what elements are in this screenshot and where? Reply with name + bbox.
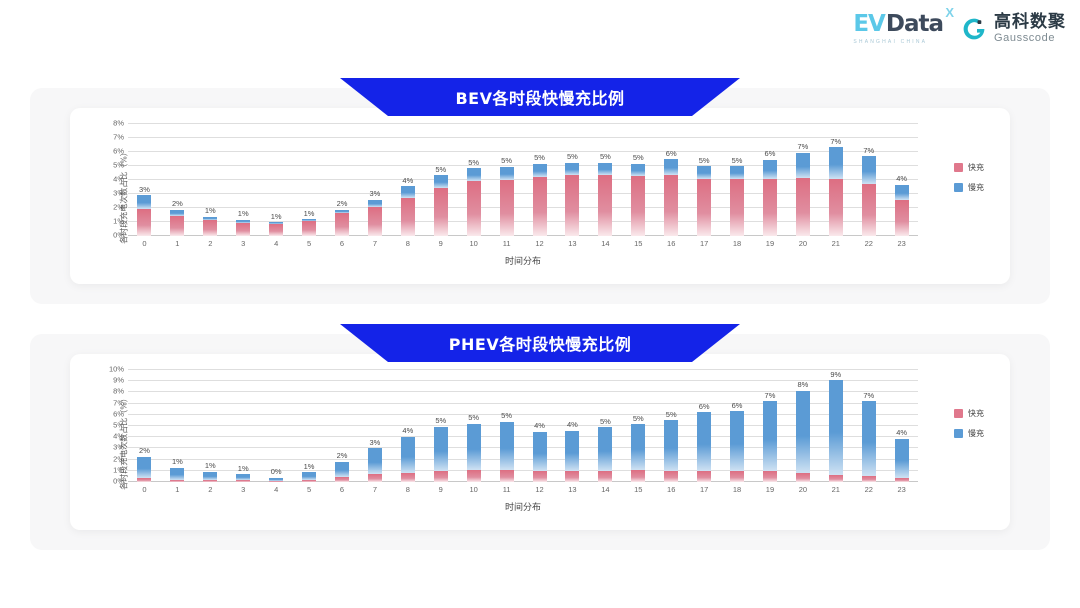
- stacked-bar[interactable]: [895, 439, 909, 482]
- stacked-bar[interactable]: [796, 391, 810, 482]
- bar-column[interactable]: 5%: [457, 124, 490, 236]
- stacked-bar[interactable]: [170, 210, 184, 236]
- x-tick-label: 1: [161, 239, 194, 248]
- bar-segment-fast-charge: [269, 481, 283, 482]
- bar-column[interactable]: 7%: [819, 124, 852, 236]
- bev-chart-card: 各时段充电次数占比（%） 0%1%2%3%4%5%6%7%8%3%2%1%1%1…: [70, 108, 1010, 284]
- legend-label: 慢充: [968, 182, 984, 193]
- bar-column[interactable]: 4%: [391, 124, 424, 236]
- gausscode-cn-text: 高科数聚: [994, 14, 1066, 31]
- bar-column[interactable]: 6%: [655, 124, 688, 236]
- gausscode-mark-icon: [961, 16, 987, 42]
- stacked-bar[interactable]: [236, 474, 250, 482]
- x-tick-label: 1: [161, 485, 194, 494]
- bar-segment-fast-charge: [895, 478, 909, 482]
- bar-column[interactable]: 6%: [754, 124, 787, 236]
- bar-value-label: 5%: [655, 411, 688, 419]
- bar-segment-fast-charge: [763, 179, 777, 236]
- bar-value-label: 2%: [128, 447, 161, 455]
- bar-value-label: 1%: [194, 207, 227, 215]
- bar-segment-fast-charge: [664, 471, 678, 482]
- bar-segment-slow-charge: [598, 427, 612, 471]
- evdata-ev-text: EV: [853, 13, 885, 36]
- bar-segment-fast-charge: [335, 477, 349, 482]
- phev-title-text: PHEV各时段快慢充比例: [449, 331, 631, 355]
- bar-segment-slow-charge: [631, 424, 645, 470]
- bar-segment-fast-charge: [730, 179, 744, 236]
- bar-column[interactable]: 6%: [721, 370, 754, 482]
- bar-segment-fast-charge: [500, 470, 514, 482]
- stacked-bar[interactable]: [434, 175, 448, 236]
- bar-column[interactable]: 0%: [260, 370, 293, 482]
- bar-column[interactable]: 2%: [326, 124, 359, 236]
- stacked-bar[interactable]: [335, 210, 349, 236]
- bar-segment-slow-charge: [401, 186, 415, 198]
- bar-column[interactable]: 1%: [194, 124, 227, 236]
- bar-value-label: 6%: [655, 150, 688, 158]
- legend-label: 快充: [968, 408, 984, 419]
- x-tick-label: 21: [819, 239, 852, 248]
- bar-column[interactable]: 5%: [589, 124, 622, 236]
- bar-segment-slow-charge: [895, 185, 909, 200]
- x-tick-label: 5: [293, 485, 326, 494]
- bar-column[interactable]: 5%: [424, 124, 457, 236]
- bar-value-label: 4%: [885, 175, 918, 183]
- evdata-logo: EV Data X SHANGHAI CHINA: [853, 13, 943, 45]
- stacked-bar[interactable]: [631, 424, 645, 482]
- legend-label: 慢充: [968, 428, 984, 439]
- bar-segment-slow-charge: [895, 439, 909, 478]
- bar-segment-slow-charge: [631, 164, 645, 176]
- bar-segment-fast-charge: [368, 474, 382, 482]
- bar-segment-fast-charge: [730, 471, 744, 482]
- stacked-bar[interactable]: [467, 168, 481, 236]
- x-tick-label: 2: [194, 239, 227, 248]
- bar-column[interactable]: 4%: [885, 370, 918, 482]
- legend-item[interactable]: 快充: [954, 408, 984, 419]
- bar-value-label: 3%: [358, 190, 391, 198]
- bar-segment-fast-charge: [500, 180, 514, 236]
- stacked-bar[interactable]: [401, 186, 415, 236]
- bar-column[interactable]: 5%: [589, 370, 622, 482]
- bar-segment-slow-charge: [763, 160, 777, 179]
- bar-column[interactable]: 1%: [227, 370, 260, 482]
- stacked-bar[interactable]: [434, 427, 448, 482]
- bar-segment-slow-charge: [862, 401, 876, 475]
- x-tick-label: 6: [326, 485, 359, 494]
- x-tick-label: 23: [885, 239, 918, 248]
- x-tick-label: 4: [260, 239, 293, 248]
- x-tick-label: 11: [490, 485, 523, 494]
- x-tick-label: 12: [523, 239, 556, 248]
- bar-segment-slow-charge: [565, 163, 579, 176]
- bar-segment-fast-charge: [434, 188, 448, 236]
- stacked-bar[interactable]: [269, 478, 283, 482]
- bar-value-label: 5%: [589, 153, 622, 161]
- bar-segment-slow-charge: [829, 147, 843, 179]
- bev-chart-panel: 各时段充电次数占比（%） 0%1%2%3%4%5%6%7%8%3%2%1%1%1…: [30, 88, 1050, 304]
- bar-column[interactable]: 3%: [358, 124, 391, 236]
- bar-column[interactable]: 4%: [391, 370, 424, 482]
- bar-value-label: 5%: [688, 157, 721, 165]
- stacked-bar[interactable]: [565, 163, 579, 237]
- bar-value-label: 1%: [227, 465, 260, 473]
- bar-value-label: 4%: [523, 422, 556, 430]
- evdata-wordmark: EV Data X: [853, 13, 943, 36]
- bar-segment-fast-charge: [236, 223, 250, 236]
- bev-y-tick: 3%: [113, 189, 124, 197]
- phev-y-tick: 0%: [113, 477, 124, 485]
- x-tick-label: 5: [293, 239, 326, 248]
- bev-y-tick: 8%: [113, 119, 124, 127]
- bar-column[interactable]: 3%: [358, 370, 391, 482]
- bev-y-tick: 4%: [113, 175, 124, 183]
- phev-y-tick: 4%: [113, 432, 124, 440]
- stacked-bar[interactable]: [598, 163, 612, 237]
- stacked-bar[interactable]: [730, 411, 744, 482]
- x-tick-label: 8: [391, 485, 424, 494]
- bar-segment-fast-charge: [368, 207, 382, 236]
- phev-y-tick: 6%: [113, 410, 124, 418]
- bar-segment-fast-charge: [862, 184, 876, 237]
- stacked-bar[interactable]: [565, 430, 579, 482]
- evdata-data-text: Data: [886, 13, 943, 36]
- bar-value-label: 5%: [457, 414, 490, 422]
- stacked-bar[interactable]: [895, 185, 909, 236]
- bar-segment-fast-charge: [565, 471, 579, 482]
- stacked-bar[interactable]: [796, 153, 810, 236]
- bar-segment-fast-charge: [203, 480, 217, 482]
- x-tick-label: 10: [457, 485, 490, 494]
- stacked-bar[interactable]: [368, 448, 382, 482]
- bar-value-label: 1%: [293, 463, 326, 471]
- x-tick-label: 17: [688, 485, 721, 494]
- phev-chart: 各时段充电次数占比（%） 0%1%2%3%4%5%6%7%8%9%10%2%1%…: [70, 354, 1010, 530]
- stacked-bar[interactable]: [368, 200, 382, 236]
- stacked-bar[interactable]: [862, 401, 876, 482]
- bar-value-label: 1%: [194, 462, 227, 470]
- bar-column[interactable]: 2%: [128, 370, 161, 482]
- stacked-bar[interactable]: [763, 160, 777, 236]
- stacked-bar[interactable]: [862, 156, 876, 236]
- bar-segment-slow-charge: [467, 424, 481, 470]
- bar-segment-slow-charge: [763, 401, 777, 470]
- bar-column[interactable]: 7%: [786, 124, 819, 236]
- bar-segment-fast-charge: [565, 175, 579, 236]
- phev-chart-card: 各时段充电次数占比（%） 0%1%2%3%4%5%6%7%8%9%10%2%1%…: [70, 354, 1010, 530]
- bar-value-label: 5%: [424, 166, 457, 174]
- logo-group: EV Data X SHANGHAI CHINA 高科数聚 Gausscode: [853, 13, 1066, 45]
- bar-value-label: 3%: [128, 186, 161, 194]
- bar-segment-slow-charge: [664, 159, 678, 175]
- phev-bar-group: 2%1%1%1%0%1%2%3%4%5%5%5%4%4%5%5%5%6%6%7%…: [128, 370, 918, 482]
- x-tick-label: 10: [457, 239, 490, 248]
- x-tick-label: 3: [227, 485, 260, 494]
- bar-segment-slow-charge: [533, 432, 547, 472]
- bar-segment-fast-charge: [401, 473, 415, 482]
- bar-segment-slow-charge: [203, 472, 217, 480]
- bar-segment-slow-charge: [664, 420, 678, 470]
- bev-bar-group: 3%2%1%1%1%1%2%3%4%5%5%5%5%5%5%5%6%5%5%6%…: [128, 124, 918, 236]
- bar-column[interactable]: 5%: [424, 370, 457, 482]
- x-tick-label: 19: [754, 239, 787, 248]
- stacked-bar[interactable]: [137, 457, 151, 482]
- bar-segment-fast-charge: [203, 220, 217, 236]
- bar-value-label: 5%: [424, 417, 457, 425]
- bar-value-label: 5%: [556, 153, 589, 161]
- bar-column[interactable]: 5%: [457, 370, 490, 482]
- bev-legend: 快充慢充: [954, 162, 984, 193]
- bev-plot-area: 0%1%2%3%4%5%6%7%8%3%2%1%1%1%1%2%3%4%5%5%…: [128, 124, 918, 236]
- bar-segment-fast-charge: [598, 175, 612, 236]
- bar-value-label: 7%: [754, 392, 787, 400]
- x-tick-label: 17: [688, 239, 721, 248]
- bar-column[interactable]: 4%: [523, 370, 556, 482]
- bev-y-tick: 7%: [113, 133, 124, 141]
- stacked-bar[interactable]: [730, 166, 744, 236]
- stacked-bar[interactable]: [500, 167, 514, 236]
- bar-column[interactable]: 7%: [852, 124, 885, 236]
- bar-value-label: 2%: [161, 200, 194, 208]
- stacked-bar[interactable]: [697, 166, 711, 236]
- bar-column[interactable]: 4%: [885, 124, 918, 236]
- bar-column[interactable]: 2%: [326, 370, 359, 482]
- bar-segment-fast-charge: [664, 175, 678, 236]
- stacked-bar[interactable]: [829, 380, 843, 482]
- bar-value-label: 1%: [161, 458, 194, 466]
- x-tick-label: 2: [194, 485, 227, 494]
- x-tick-label: 3: [227, 239, 260, 248]
- bar-value-label: 6%: [688, 403, 721, 411]
- x-tick-label: 21: [819, 485, 852, 494]
- bar-column[interactable]: 8%: [786, 370, 819, 482]
- legend-swatch-icon: [954, 163, 963, 172]
- bar-column[interactable]: 7%: [754, 370, 787, 482]
- bev-title-banner: BEV各时段快慢充比例: [340, 78, 740, 116]
- stacked-bar[interactable]: [664, 420, 678, 482]
- bar-segment-slow-charge: [565, 431, 579, 471]
- bar-segment-fast-charge: [829, 475, 843, 482]
- bar-segment-fast-charge: [862, 476, 876, 482]
- bar-column[interactable]: 1%: [293, 124, 326, 236]
- bev-chart: 各时段充电次数占比（%） 0%1%2%3%4%5%6%7%8%3%2%1%1%1…: [70, 108, 1010, 284]
- bar-segment-slow-charge: [598, 163, 612, 176]
- bar-segment-fast-charge: [796, 473, 810, 482]
- bar-segment-slow-charge: [697, 412, 711, 471]
- stacked-bar[interactable]: [664, 159, 678, 236]
- stacked-bar[interactable]: [302, 219, 316, 236]
- bar-segment-slow-charge: [368, 200, 382, 207]
- bar-segment-slow-charge: [730, 411, 744, 470]
- bar-value-label: 7%: [852, 392, 885, 400]
- bar-value-label: 5%: [589, 418, 622, 426]
- bar-column[interactable]: 5%: [688, 124, 721, 236]
- stacked-bar[interactable]: [269, 222, 283, 236]
- x-tick-label: 7: [358, 485, 391, 494]
- bar-column[interactable]: 5%: [655, 370, 688, 482]
- bar-segment-fast-charge: [335, 213, 349, 236]
- bar-segment-fast-charge: [631, 176, 645, 236]
- x-tick-label: 16: [655, 485, 688, 494]
- stacked-bar[interactable]: [170, 468, 184, 482]
- bar-column[interactable]: 5%: [622, 124, 655, 236]
- phev-y-tick: 5%: [113, 421, 124, 429]
- bar-segment-fast-charge: [170, 216, 184, 236]
- bar-column[interactable]: 1%: [194, 370, 227, 482]
- bar-value-label: 5%: [721, 157, 754, 165]
- bar-value-label: 7%: [852, 147, 885, 155]
- stacked-bar[interactable]: [203, 217, 217, 236]
- x-tick-label: 16: [655, 239, 688, 248]
- x-tick-label: 15: [622, 485, 655, 494]
- bar-segment-fast-charge: [533, 177, 547, 237]
- bar-column[interactable]: 3%: [128, 124, 161, 236]
- bar-value-label: 4%: [391, 427, 424, 435]
- bar-value-label: 7%: [819, 138, 852, 146]
- stacked-bar[interactable]: [500, 422, 514, 482]
- bar-segment-slow-charge: [829, 380, 843, 475]
- page-header: EV Data X SHANGHAI CHINA 高科数聚 Gausscode: [0, 0, 1080, 62]
- legend-item[interactable]: 慢充: [954, 428, 984, 439]
- x-tick-label: 9: [424, 485, 457, 494]
- bar-segment-slow-charge: [401, 437, 415, 473]
- bar-value-label: 6%: [721, 402, 754, 410]
- bar-column[interactable]: 5%: [490, 124, 523, 236]
- legend-swatch-icon: [954, 429, 963, 438]
- legend-swatch-icon: [954, 183, 963, 192]
- x-tick-label: 6: [326, 239, 359, 248]
- bar-value-label: 1%: [260, 213, 293, 221]
- bar-segment-fast-charge: [533, 471, 547, 482]
- x-tick-label: 11: [490, 239, 523, 248]
- phev-y-tick: 9%: [113, 376, 124, 384]
- stacked-bar[interactable]: [697, 412, 711, 482]
- bar-segment-fast-charge: [895, 200, 909, 236]
- bar-segment-slow-charge: [796, 153, 810, 178]
- stacked-bar[interactable]: [401, 437, 415, 482]
- bar-segment-slow-charge: [335, 462, 349, 478]
- bar-segment-fast-charge: [697, 179, 711, 236]
- phev-y-tick: 10%: [109, 365, 124, 373]
- bar-segment-slow-charge: [302, 472, 316, 480]
- bar-segment-slow-charge: [368, 448, 382, 474]
- phev-legend: 快充慢充: [954, 408, 984, 439]
- bar-column[interactable]: 1%: [293, 370, 326, 482]
- x-tick-label: 14: [589, 485, 622, 494]
- phev-chart-panel: 各时段充电次数占比（%） 0%1%2%3%4%5%6%7%8%9%10%2%1%…: [30, 334, 1050, 550]
- x-tick-label: 19: [754, 485, 787, 494]
- bar-value-label: 9%: [819, 371, 852, 379]
- bar-segment-fast-charge: [302, 480, 316, 482]
- x-tick-label: 18: [721, 485, 754, 494]
- bar-value-label: 1%: [293, 210, 326, 218]
- gausscode-en-text: Gausscode: [994, 33, 1066, 44]
- stacked-bar[interactable]: [631, 164, 645, 236]
- legend-item[interactable]: 慢充: [954, 182, 984, 193]
- gausscode-text: 高科数聚 Gausscode: [994, 14, 1066, 44]
- bar-segment-slow-charge: [170, 468, 184, 480]
- bar-column[interactable]: 1%: [227, 124, 260, 236]
- bar-segment-slow-charge: [697, 166, 711, 179]
- bev-y-tick: 0%: [113, 231, 124, 239]
- bar-column[interactable]: 5%: [622, 370, 655, 482]
- bar-column[interactable]: 5%: [490, 370, 523, 482]
- x-tick-label: 22: [852, 239, 885, 248]
- bev-title-text: BEV各时段快慢充比例: [455, 85, 624, 109]
- bar-segment-slow-charge: [467, 168, 481, 181]
- bar-column[interactable]: 1%: [260, 124, 293, 236]
- bar-segment-fast-charge: [137, 209, 151, 236]
- bar-segment-fast-charge: [236, 480, 250, 482]
- bar-segment-fast-charge: [598, 471, 612, 482]
- bar-value-label: 0%: [260, 468, 293, 476]
- stacked-bar[interactable]: [598, 427, 612, 482]
- x-tick-label: 8: [391, 239, 424, 248]
- x-tick-label: 15: [622, 239, 655, 248]
- evdata-subtitle: SHANGHAI CHINA: [853, 39, 927, 45]
- bar-column[interactable]: 5%: [556, 124, 589, 236]
- stacked-bar[interactable]: [533, 164, 547, 236]
- bar-value-label: 5%: [622, 154, 655, 162]
- bar-segment-fast-charge: [829, 179, 843, 236]
- bar-value-label: 5%: [490, 412, 523, 420]
- phev-y-tick: 3%: [113, 444, 124, 452]
- bar-column[interactable]: 1%: [161, 370, 194, 482]
- stacked-bar[interactable]: [236, 220, 250, 236]
- bev-y-tick: 6%: [113, 147, 124, 155]
- bar-value-label: 8%: [786, 381, 819, 389]
- stacked-bar[interactable]: [203, 472, 217, 482]
- bar-segment-fast-charge: [269, 224, 283, 236]
- bar-column[interactable]: 5%: [523, 124, 556, 236]
- phev-x-axis-label: 时间分布: [128, 500, 918, 513]
- bar-column[interactable]: 6%: [688, 370, 721, 482]
- x-tick-label: 20: [786, 485, 819, 494]
- bar-segment-fast-charge: [401, 198, 415, 236]
- bar-value-label: 2%: [326, 200, 359, 208]
- bar-value-label: 5%: [457, 159, 490, 167]
- bar-column[interactable]: 4%: [556, 370, 589, 482]
- x-tick-label: 0: [128, 485, 161, 494]
- bar-column[interactable]: 7%: [852, 370, 885, 482]
- bar-segment-slow-charge: [862, 156, 876, 183]
- bar-segment-slow-charge: [434, 427, 448, 471]
- phev-x-tick-labels: 01234567891011121314151617181920212223: [128, 485, 918, 494]
- stacked-bar[interactable]: [137, 195, 151, 236]
- stacked-bar[interactable]: [335, 462, 349, 482]
- bev-y-tick: 1%: [113, 217, 124, 225]
- x-tick-label: 13: [556, 239, 589, 248]
- bar-column[interactable]: 9%: [819, 370, 852, 482]
- stacked-bar[interactable]: [829, 147, 843, 236]
- bar-column[interactable]: 2%: [161, 124, 194, 236]
- x-tick-label: 23: [885, 485, 918, 494]
- legend-item[interactable]: 快充: [954, 162, 984, 173]
- bar-segment-fast-charge: [631, 470, 645, 482]
- bar-value-label: 6%: [754, 150, 787, 158]
- phev-y-tick: 8%: [113, 388, 124, 396]
- gausscode-logo: 高科数聚 Gausscode: [961, 14, 1066, 44]
- stacked-bar[interactable]: [533, 432, 547, 482]
- bar-segment-slow-charge: [434, 175, 448, 188]
- stacked-bar[interactable]: [302, 472, 316, 482]
- stacked-bar[interactable]: [763, 401, 777, 482]
- stacked-bar[interactable]: [467, 424, 481, 482]
- bar-segment-slow-charge: [730, 166, 744, 179]
- bar-column[interactable]: 5%: [721, 124, 754, 236]
- bar-segment-fast-charge: [697, 471, 711, 482]
- bar-segment-slow-charge: [533, 164, 547, 177]
